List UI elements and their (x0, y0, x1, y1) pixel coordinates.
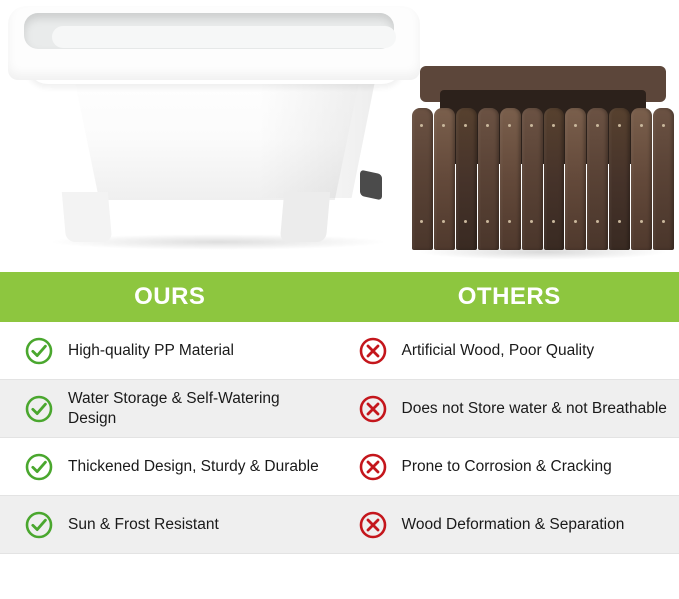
comparison-row: High-quality PP Material Artificial Wood… (0, 322, 679, 380)
comparison-header-others: OTHERS (340, 272, 679, 322)
cross-circle-icon (358, 394, 388, 424)
wooden-picket (412, 108, 433, 250)
wooden-picket (522, 108, 543, 250)
comparison-ours-text: Sun & Frost Resistant (68, 515, 219, 535)
cross-circle-icon (358, 452, 388, 482)
white-planter-rim (8, 6, 420, 80)
white-planter-leg-right (280, 192, 330, 242)
comparison-row: Water Storage & Self-Watering Design Doe… (0, 380, 679, 438)
comparison-others-text: Prone to Corrosion & Cracking (402, 457, 612, 477)
wooden-picket (456, 108, 477, 250)
comparison-cell-others: Artificial Wood, Poor Quality (340, 322, 679, 379)
comparison-cell-others: Wood Deformation & Separation (340, 496, 679, 553)
comparison-row: Thickened Design, Sturdy & Durable Prone… (0, 438, 679, 496)
comparison-cell-ours: Sun & Frost Resistant (0, 496, 340, 553)
white-planter-leg-left (62, 192, 112, 242)
wooden-picket (609, 108, 630, 250)
wooden-picket (565, 108, 586, 250)
check-circle-icon (24, 336, 54, 366)
product-image-area (0, 0, 679, 272)
white-plastic-planter-image (8, 6, 420, 256)
wooden-picket (500, 108, 521, 250)
cross-circle-icon (358, 336, 388, 366)
check-circle-icon (24, 452, 54, 482)
comparison-cell-ours: Thickened Design, Sturdy & Durable (0, 438, 340, 495)
wooden-picket (478, 108, 499, 250)
wooden-planter-image (412, 66, 674, 266)
comparison-cell-ours: Water Storage & Self-Watering Design (0, 380, 340, 437)
comparison-ours-text: Thickened Design, Sturdy & Durable (68, 457, 319, 477)
comparison-others-text: Does not Store water & not Breathable (402, 399, 667, 419)
cross-circle-icon (358, 510, 388, 540)
comparison-others-text: Artificial Wood, Poor Quality (402, 341, 595, 361)
comparison-header-ours: OURS (0, 272, 340, 322)
wooden-picket (434, 108, 455, 250)
white-planter-rim-cavity (24, 13, 394, 49)
comparison-ours-text: Water Storage & Self-Watering Design (68, 389, 330, 429)
comparison-cell-others: Prone to Corrosion & Cracking (340, 438, 679, 495)
comparison-cell-others: Does not Store water & not Breathable (340, 380, 679, 437)
comparison-ours-text: High-quality PP Material (68, 341, 234, 361)
white-planter-drain-plug (360, 170, 382, 201)
check-circle-icon (24, 510, 54, 540)
check-circle-icon (24, 394, 54, 424)
product-comparison-page: OURS OTHERS High-quality PP Material (0, 0, 679, 599)
comparison-cell-ours: High-quality PP Material (0, 322, 340, 379)
wooden-picket (544, 108, 565, 250)
wooden-picket (653, 108, 674, 250)
wooden-picket (631, 108, 652, 250)
comparison-header-row: OURS OTHERS (0, 272, 679, 322)
white-planter-rim-cavity-highlight (52, 26, 396, 48)
comparison-others-text: Wood Deformation & Separation (402, 515, 625, 535)
wooden-planter-pickets (412, 108, 674, 250)
comparison-row: Sun & Frost Resistant Wood Deformation &… (0, 496, 679, 554)
comparison-table: OURS OTHERS High-quality PP Material (0, 272, 679, 599)
wooden-picket (587, 108, 608, 250)
